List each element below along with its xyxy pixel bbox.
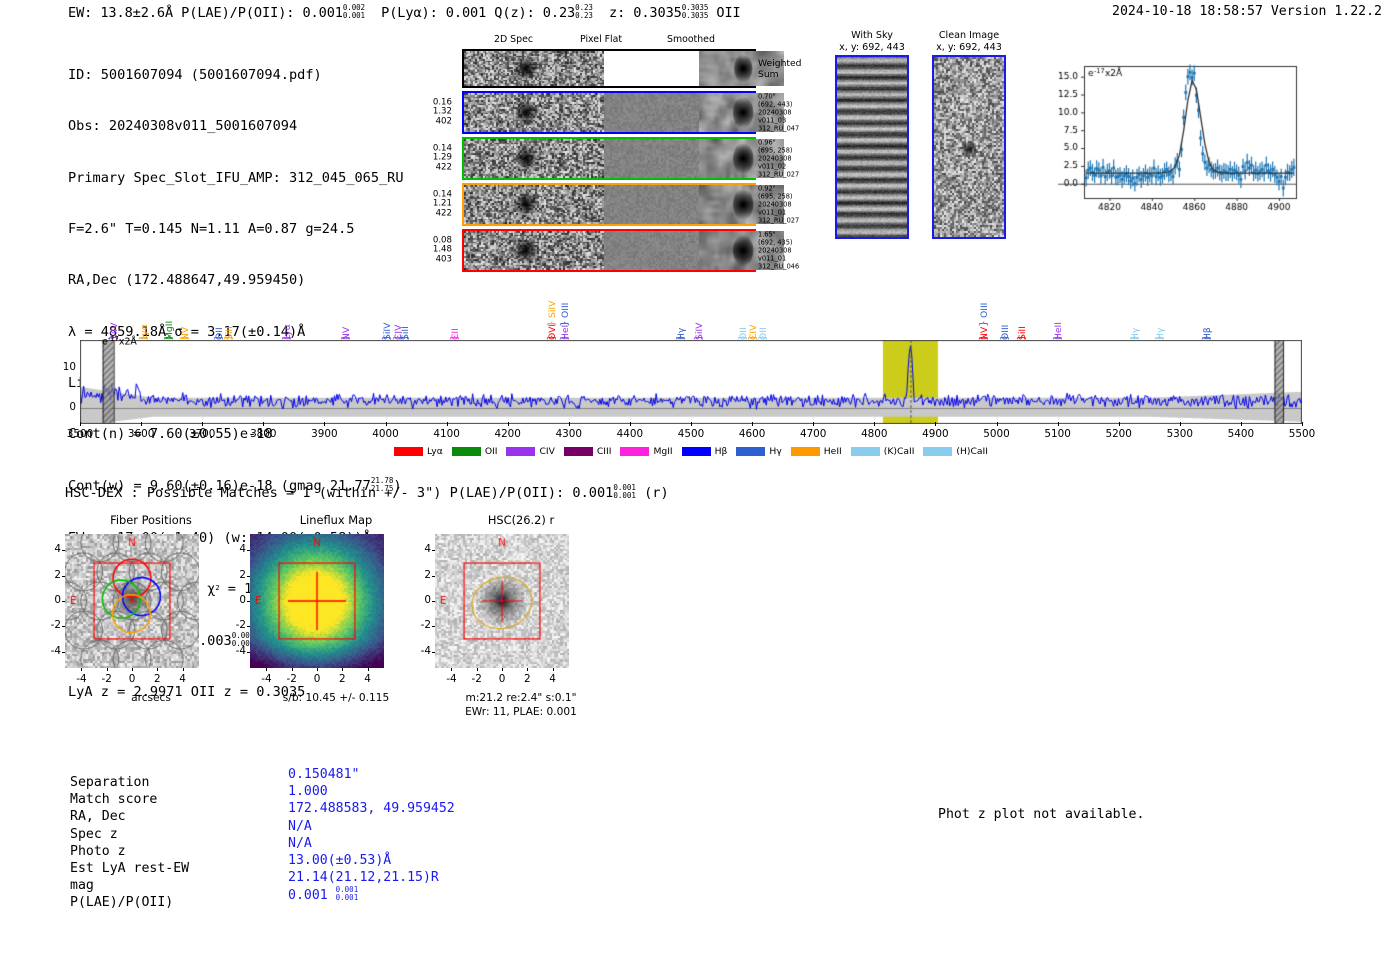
legend-label: Hγ	[769, 446, 781, 457]
legend-swatch	[851, 447, 880, 456]
spectrum-x-tick: 4300	[547, 428, 591, 440]
twod-spec-grid: 2D Spec Pixel Flat Smoothed Weighted Sum…	[462, 34, 762, 272]
spectrum-x-tickmark	[386, 422, 387, 426]
cutout-y-tickmark	[432, 626, 435, 627]
spectrum-x-tick: 5300	[1158, 428, 1202, 440]
cutout-x-tick: 2	[513, 673, 541, 685]
spectrum-x-tickmark	[202, 422, 203, 426]
twod-spec-cell	[464, 231, 604, 270]
spectrum-x-tickmark	[569, 422, 570, 426]
match-table-label: Photo z	[70, 843, 189, 860]
full-spectrum-panel: SiIV{Lyα{MgII{NV{OII{SiII{Lyα{NV{SiIV{CI…	[80, 278, 1308, 463]
spectrum-y-tick: 10	[54, 361, 76, 373]
cutout-x-tick: -4	[252, 673, 280, 685]
cutout-x-tickmark	[502, 668, 503, 671]
legend-label: (H)CaII	[956, 446, 988, 457]
cutout-x-tickmark	[451, 668, 452, 671]
spectrum-x-tickmark	[997, 422, 998, 426]
cutout-x-tickmark	[368, 668, 369, 671]
legend-swatch	[620, 447, 649, 456]
spectrum-x-tick: 5000	[975, 428, 1019, 440]
legend-swatch	[791, 447, 820, 456]
twod-spec-row: 0.14 1.29 4220.96" (695, 258) 20240308 v…	[462, 137, 756, 180]
header-summary-z: z: 0.3035	[609, 5, 682, 21]
spectrum-x-tickmark	[752, 422, 753, 426]
cutout-y-tick: -4	[41, 645, 61, 657]
spectrum-x-tick: 4800	[852, 428, 896, 440]
info-obs: Obs: 20240308v011_5001607094	[68, 118, 404, 135]
twod-spec-row: 0.08 1.48 4031.65" (692, 435) 20240308 v…	[462, 229, 756, 272]
spectrum-x-tick: 5200	[1097, 428, 1141, 440]
spectrum-x-tickmark	[141, 422, 142, 426]
cutout-x-tick: -2	[463, 673, 491, 685]
emission-line-canvas	[1040, 52, 1302, 228]
spectrum-x-tickmark	[874, 422, 875, 426]
spectrum-x-tick: 5400	[1219, 428, 1263, 440]
twod-spec-row: 0.14 1.21 4220.92" (695, 258) 20240308 v…	[462, 183, 756, 226]
hsc-r-image	[435, 534, 569, 668]
info-params: F=2.6" T=0.145 N=1.11 A=0.87 g=24.5	[68, 221, 404, 238]
hsc-caption-line2: EWr: 11, PLAE: 0.001	[428, 706, 614, 719]
cutout-y-tick: 2	[226, 569, 246, 581]
title-pixel-flat: Pixel Flat	[580, 34, 622, 45]
cutout-y-tickmark	[247, 576, 250, 577]
spectrum-legend: LyαOIICIVCIIIMgIIHβHγHeII(K)CaII(H)CaII	[80, 446, 1302, 457]
cutout-x-tick: -2	[93, 673, 121, 685]
legend-label: HeII	[824, 446, 842, 457]
with-sky-cutout: With Sky x, y: 692, 443	[816, 30, 928, 239]
hsc-dex-summary: HSC-DEX : Possible Matches = 1 (within +…	[65, 484, 669, 501]
header-z-frac: 0.30350.3035	[682, 4, 709, 19]
twod-spec-cell	[464, 185, 604, 224]
spectrum-x-tickmark	[1241, 422, 1242, 426]
pixel-flat-cell	[604, 51, 699, 86]
cutout-y-tickmark	[62, 601, 65, 602]
legend-item: HeII	[791, 446, 842, 457]
spectrum-x-tick: 4600	[730, 428, 774, 440]
hsc-dex-frac: 0.0010.001	[613, 484, 636, 499]
twod-row-right-label: 0.96" (695, 258) 20240308 v011_02 312_RU…	[758, 138, 799, 179]
with-sky-image	[835, 55, 909, 239]
twod-spec-cell	[464, 139, 604, 178]
cutout-y-tick: -2	[41, 619, 61, 631]
twod-row-right-label: 0.70" (692, 443) 20240308 v011_03 312_RU…	[758, 92, 799, 133]
spectrum-x-tickmark	[1302, 422, 1303, 426]
spectrum-x-axis: 3500360037003800390040004100420043004400…	[80, 426, 1302, 442]
cutout-y-tick: 4	[41, 543, 61, 555]
cutout-x-tick: -4	[67, 673, 95, 685]
cutout-y-tick: -2	[411, 619, 431, 631]
twod-row-right-label: 1.65" (692, 435) 20240308 v011_01 312_RU…	[758, 230, 799, 271]
hsc-r-title: HSC(26.2) r	[428, 513, 614, 527]
clean-image-caption: Clean Image x, y: 692, 443	[913, 30, 1025, 53]
pixel-flat-cell	[604, 185, 699, 224]
spectrum-x-tick: 5100	[1036, 428, 1080, 440]
cutout-x-tick: 0	[303, 673, 331, 685]
cutout-x-tickmark	[292, 668, 293, 671]
spectrum-x-tickmark	[1180, 422, 1181, 426]
cutout-x-tickmark	[81, 668, 82, 671]
legend-item: Lyα	[394, 446, 443, 457]
match-table-label: Match score	[70, 791, 189, 808]
pixel-flat-cell	[604, 231, 699, 270]
pixel-flat-cell	[604, 93, 699, 132]
cutout-y-tickmark	[432, 550, 435, 551]
spectrum-x-tickmark	[813, 422, 814, 426]
cutout-x-tick: 0	[488, 673, 516, 685]
cutout-x-tick: 2	[143, 673, 171, 685]
twod-row-right-label: 0.92" (695, 258) 20240308 v011_01 312_RU…	[758, 184, 799, 225]
match-table-labels: SeparationMatch scoreRA, DecSpec zPhoto …	[70, 774, 189, 912]
cutout-x-tick: -4	[437, 673, 465, 685]
legend-label: CIII	[597, 446, 612, 457]
spectrum-x-tick: 4700	[791, 428, 835, 440]
emission-line-markers: SiIV{Lyα{MgII{NV{OII{SiII{Lyα{NV{SiIV{CI…	[80, 278, 1302, 340]
match-table-value: N/A	[288, 835, 455, 852]
legend-item: Hβ	[682, 446, 728, 457]
cutout-y-tick: 0	[411, 594, 431, 606]
spectrum-x-tick: 4500	[669, 428, 713, 440]
match-table-label: Est LyA rest-EW	[70, 860, 189, 877]
cutout-y-tickmark	[432, 652, 435, 653]
header-summary-suffix: OII	[716, 5, 740, 21]
legend-item: Hγ	[736, 446, 781, 457]
match-table-value: 172.488583, 49.959452	[288, 800, 455, 817]
spectrum-y-tick: 0	[54, 401, 76, 413]
title-smoothed: Smoothed	[667, 34, 715, 45]
spectrum-x-tick: 4100	[425, 428, 469, 440]
twod-spec-row: 0.16 1.32 4020.70" (692, 443) 20240308 v…	[462, 91, 756, 134]
header-summary-prefix: EW: 13.8±2.6Å P(LAE)/P(OII): 0.001	[68, 5, 343, 21]
legend-swatch	[452, 447, 481, 456]
cutout-y-tickmark	[62, 626, 65, 627]
cutout-y-tick: -4	[411, 645, 431, 657]
match-table-values: 0.150481"1.000172.488583, 49.959452N/AN/…	[288, 766, 455, 905]
spectrum-x-tickmark	[80, 422, 81, 426]
cutout-y-tick: 2	[411, 569, 431, 581]
match-table-plae-frac: 0.0010.001	[336, 886, 359, 901]
match-table-label: mag	[70, 877, 189, 894]
emission-line-plot	[1040, 52, 1302, 228]
spectrum-flux-units: e-17x2Å	[102, 335, 137, 347]
legend-label: (K)CaII	[884, 446, 915, 457]
spectrum-x-tickmark	[508, 422, 509, 426]
cutout-x-tick: 0	[118, 673, 146, 685]
cutout-y-tick: 0	[226, 594, 246, 606]
cutout-x-tickmark	[157, 668, 158, 671]
twod-row-left-label: 0.14 1.29 422	[433, 144, 452, 173]
timestamp-version: 2024-10-18 18:58:57 Version 1.22.2	[1112, 4, 1382, 19]
twod-spec-titles: 2D Spec Pixel Flat Smoothed	[462, 34, 762, 47]
match-table-label: Separation	[70, 774, 189, 791]
legend-label: Lyα	[427, 446, 443, 457]
match-table-value: 13.00(±0.53)Å	[288, 852, 455, 869]
cutout-y-tickmark	[62, 652, 65, 653]
hsc-caption-line1: m:21.2 re:2.4" s:0.1"	[428, 692, 614, 705]
cutout-x-tickmark	[477, 668, 478, 671]
match-table-value: 21.14(21.12,21.15)R	[288, 869, 455, 886]
spectrum-x-tick: 4900	[913, 428, 957, 440]
cutout-y-tick: 4	[226, 543, 246, 555]
cutout-y-tickmark	[62, 576, 65, 577]
cutout-x-tick: 4	[354, 673, 382, 685]
match-table-value: 0.150481"	[288, 766, 455, 783]
legend-swatch	[564, 447, 593, 456]
spectrum-x-tickmark	[630, 422, 631, 426]
lineflux-map-title: Lineflux Map	[243, 513, 429, 527]
spectrum-x-tick: 3800	[241, 428, 285, 440]
full-spectrum-canvas	[80, 340, 1302, 424]
weighted-sum-label: Weighted Sum	[758, 58, 802, 80]
legend-swatch	[394, 447, 423, 456]
spectrum-x-tickmark	[1058, 422, 1059, 426]
phot-z-note: Phot z plot not available.	[938, 807, 1144, 822]
cutout-y-tick: -4	[226, 645, 246, 657]
legend-swatch	[682, 447, 711, 456]
spectrum-x-tickmark	[324, 422, 325, 426]
info-id: ID: 5001607094 (5001607094.pdf)	[68, 67, 404, 84]
twod-row-left-label: 0.16 1.32 402	[433, 98, 452, 127]
match-table-value: N/A	[288, 818, 455, 835]
header-plae-frac: 0.0020.001	[343, 4, 365, 19]
cutout-x-tick: -2	[278, 673, 306, 685]
fiber-xlabel: arcsecs	[58, 692, 244, 705]
twod-row-left-label: 0.08 1.48 403	[433, 236, 452, 265]
match-table-value: 1.000	[288, 783, 455, 800]
cutout-y-tick: 0	[41, 594, 61, 606]
fiber-positions-title: Fiber Positions	[58, 513, 244, 527]
header-summary: EW: 13.8±2.6Å P(LAE)/P(OII): 0.0010.0020…	[68, 4, 741, 21]
cutout-x-tickmark	[342, 668, 343, 671]
header-summary-mid: P(Lyα): 0.001 Q(z): 0.23	[381, 5, 575, 21]
cutout-x-tickmark	[266, 668, 267, 671]
cutout-y-tick: 4	[411, 543, 431, 555]
legend-item: OII	[452, 446, 498, 457]
twod-spec-cell	[464, 93, 604, 132]
cutout-y-tick: -2	[226, 619, 246, 631]
match-table-label: RA, Dec	[70, 808, 189, 825]
match-table-value: 0.001 0.0010.001	[288, 886, 455, 904]
cutout-y-tickmark	[62, 550, 65, 551]
clean-image-image	[932, 55, 1006, 239]
info-primary-spec: Primary Spec_Slot_IFU_AMP: 312_045_065_R…	[68, 170, 404, 187]
spectrum-x-tick: 4400	[608, 428, 652, 440]
spectrum-x-tickmark	[447, 422, 448, 426]
hsc-dex-suffix: (r)	[644, 485, 669, 501]
cutout-y-tickmark	[247, 652, 250, 653]
cutout-x-tickmark	[317, 668, 318, 671]
legend-label: OII	[485, 446, 498, 457]
cutout-x-tickmark	[183, 668, 184, 671]
lineflux-map-image	[250, 534, 384, 668]
cutout-x-tickmark	[527, 668, 528, 671]
match-table-label: Spec z	[70, 826, 189, 843]
spectrum-x-tickmark	[935, 422, 936, 426]
legend-item: MgII	[620, 446, 672, 457]
cutout-x-tickmark	[553, 668, 554, 671]
fiber-positions-image	[65, 534, 199, 668]
legend-item: (H)CaII	[923, 446, 988, 457]
twod-row-left-label: 0.14 1.21 422	[433, 190, 452, 219]
legend-swatch	[506, 447, 535, 456]
spectrum-x-tick: 4200	[486, 428, 530, 440]
cutout-x-tick: 4	[539, 673, 567, 685]
lineflux-caption: s/b: 10.45 +/- 0.115	[243, 692, 429, 705]
legend-item: CIV	[506, 446, 554, 457]
cutout-y-tickmark	[247, 626, 250, 627]
spectrum-x-tick: 3900	[302, 428, 346, 440]
legend-label: MgII	[653, 446, 672, 457]
twod-spec-row: Weighted Sum	[462, 49, 756, 88]
spectrum-x-tickmark	[263, 422, 264, 426]
spectrum-x-tick: 5500	[1280, 428, 1324, 440]
cutout-x-tickmark	[132, 668, 133, 671]
header-qz-frac: 0.230.23	[575, 4, 593, 19]
cutout-y-tickmark	[247, 550, 250, 551]
cutout-x-tick: 4	[169, 673, 197, 685]
cutout-x-tickmark	[107, 668, 108, 671]
title-2d-spec: 2D Spec	[494, 34, 533, 45]
clean-image-cutout: Clean Image x, y: 692, 443	[913, 30, 1025, 239]
legend-item: (K)CaII	[851, 446, 915, 457]
spectrum-x-tick: 3700	[180, 428, 224, 440]
spectrum-x-tick: 3500	[58, 428, 102, 440]
cutout-y-tick: 2	[41, 569, 61, 581]
match-table-label: P(LAE)/P(OII)	[70, 894, 189, 911]
hsc-dex-prefix: HSC-DEX : Possible Matches = 1 (within +…	[65, 485, 613, 501]
legend-label: CIV	[539, 446, 554, 457]
with-sky-caption: With Sky x, y: 692, 443	[816, 30, 928, 53]
spectrum-x-tick: 4000	[364, 428, 408, 440]
legend-label: Hβ	[715, 446, 728, 457]
legend-item: CIII	[564, 446, 612, 457]
cutout-x-tick: 2	[328, 673, 356, 685]
spectrum-x-tickmark	[691, 422, 692, 426]
legend-swatch	[736, 447, 765, 456]
cutout-y-tickmark	[247, 601, 250, 602]
twod-spec-cell	[464, 51, 604, 86]
pixel-flat-cell	[604, 139, 699, 178]
cutout-y-tickmark	[432, 601, 435, 602]
spectrum-x-tickmark	[1119, 422, 1120, 426]
spectrum-x-tick: 3600	[119, 428, 163, 440]
cutout-y-tickmark	[432, 576, 435, 577]
legend-swatch	[923, 447, 952, 456]
